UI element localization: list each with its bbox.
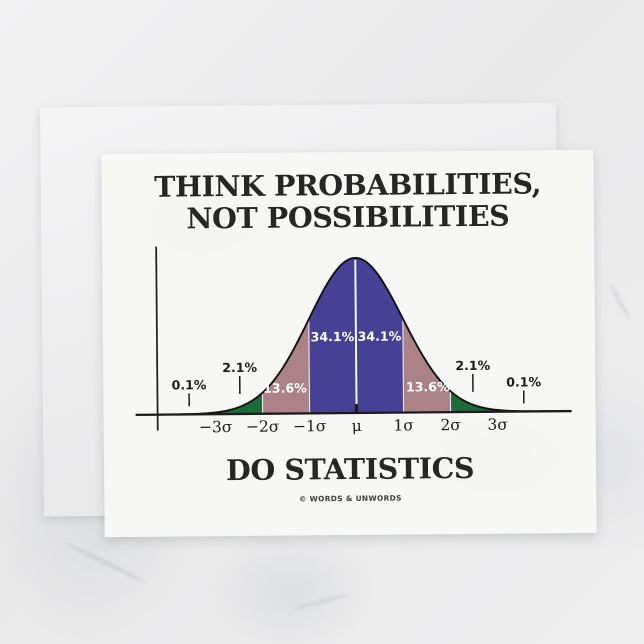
band-left-3to2-sigma [214, 241, 263, 414]
bell-curve-svg: −3σ−2σ−1σμ1σ2σ3σ 13.6% 34.1% 34.1% 13.6%… [132, 238, 574, 454]
headline: THINK PROBABILITIES, NOT POSSIBILITIES [101, 168, 594, 236]
band-left-1-sigma [308, 240, 357, 413]
label-left-34p1: 34.1% [311, 329, 355, 344]
x-tick-label-plus1: 1σ [393, 416, 414, 434]
normal-distribution-chart: −3σ−2σ−1σμ1σ2σ3σ 13.6% 34.1% 34.1% 13.6%… [132, 238, 574, 454]
label-right-0p1: 0.1% [506, 374, 541, 389]
marble-vein [63, 541, 146, 585]
marble-vein [609, 283, 631, 320]
x-tick-label-plus2: 2σ [440, 416, 461, 434]
copyright-notice: © WORDS & UNWORDS [104, 492, 596, 505]
label-right-34p1: 34.1% [358, 329, 402, 344]
marble-vein [290, 593, 349, 611]
label-right-2p1: 2.1% [455, 358, 490, 373]
band-right-1-sigma [355, 240, 404, 413]
label-left-13p6: 13.6% [263, 380, 307, 395]
headline-line-2: NOT POSSIBILITIES [102, 200, 594, 236]
label-left-2p1: 2.1% [222, 360, 257, 375]
greeting-card: THINK PROBABILITIES, NOT POSSIBILITIES [101, 150, 596, 537]
x-tick-label-minus2: −2σ [246, 418, 280, 436]
x-tick-label-minus3: −3σ [199, 418, 233, 436]
x-tick-label-mu: μ [352, 417, 362, 435]
tagline: DO STATISTICS [104, 450, 596, 488]
x-axis-tick-labels: −3σ−2σ−1σμ1σ2σ3σ [199, 416, 508, 437]
label-left-0p1: 0.1% [172, 377, 207, 392]
scene-backdrop: THINK PROBABILITIES, NOT POSSIBILITIES [0, 0, 644, 644]
x-tick-label-minus1: −1σ [293, 417, 327, 435]
mean-center-line [355, 260, 356, 413]
y-axis-line [156, 247, 158, 431]
x-tick-label-plus3: 3σ [487, 416, 508, 434]
label-right-13p6: 13.6% [406, 379, 450, 394]
